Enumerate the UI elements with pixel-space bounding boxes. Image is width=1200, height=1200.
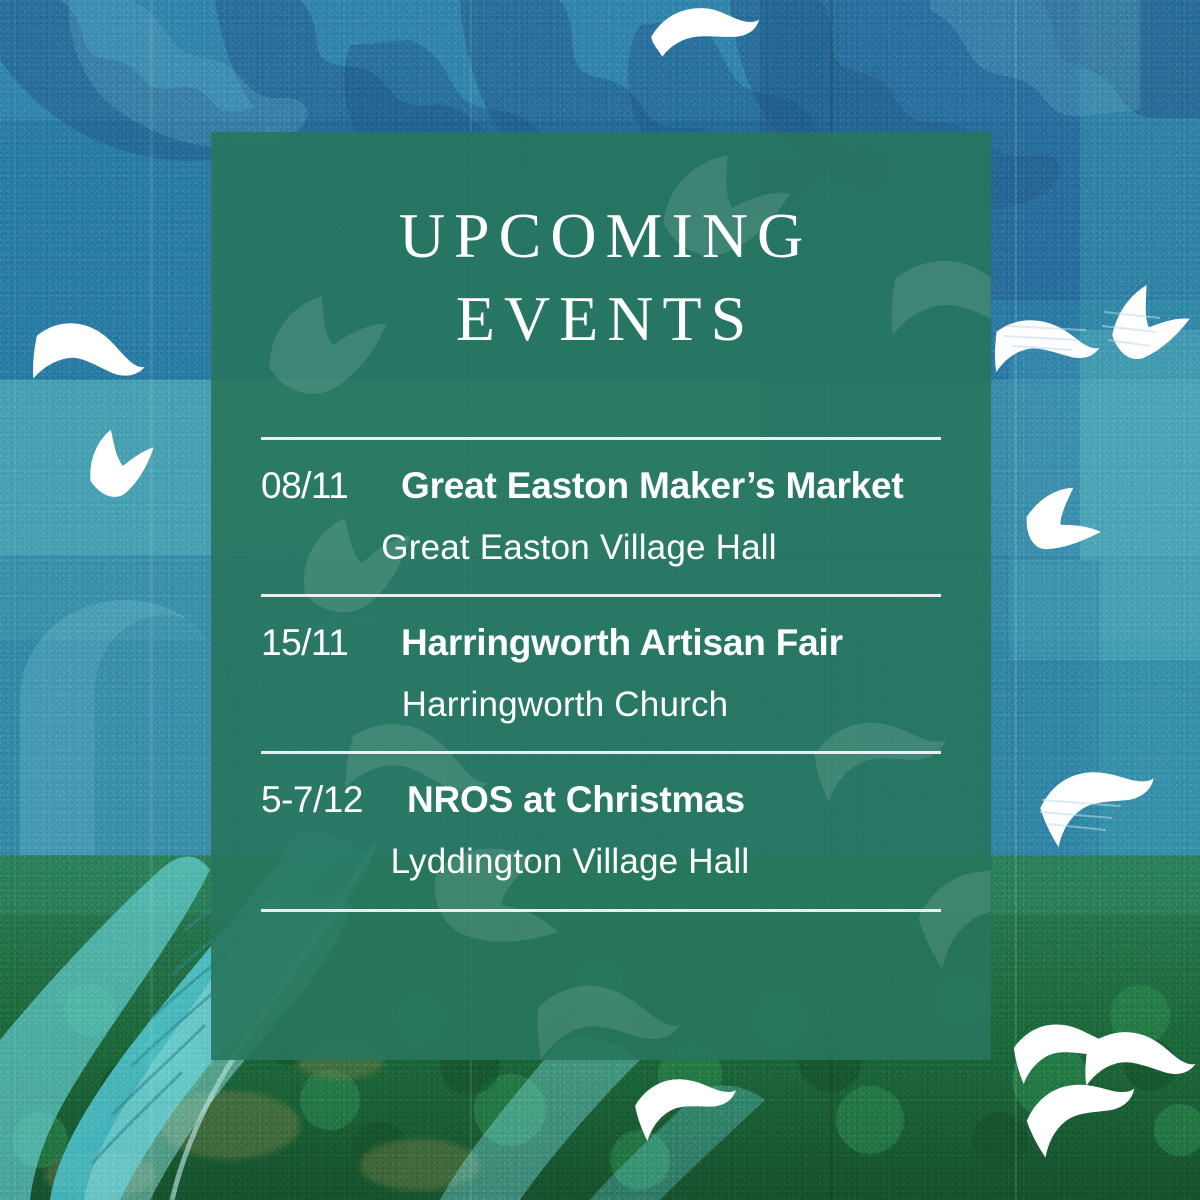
event-date: 08/11 <box>261 466 401 507</box>
event-venue: Harringworth Church <box>261 664 941 752</box>
divider-bottom <box>261 909 941 912</box>
event-name: NROS at Christmas <box>407 780 745 821</box>
title-line-1: UPCOMING <box>211 194 991 277</box>
list-item[interactable]: 08/11 Great Easton Maker’s Market Great … <box>261 440 941 594</box>
events-list: 08/11 Great Easton Maker’s Market Great … <box>261 437 941 912</box>
event-name: Great Easton Maker’s Market <box>401 466 904 507</box>
poster-canvas: UPCOMING EVENTS 08/11 Great Easton Maker… <box>0 0 1200 1200</box>
event-date: 5-7/12 <box>261 780 407 821</box>
event-venue: Lyddington Village Hall <box>261 821 941 909</box>
event-venue: Great Easton Village Hall <box>261 507 941 595</box>
title-line-2: EVENTS <box>211 277 991 360</box>
events-panel: UPCOMING EVENTS 08/11 Great Easton Maker… <box>211 132 991 1060</box>
list-item[interactable]: 15/11 Harringworth Artisan Fair Harringw… <box>261 597 941 751</box>
event-heading-row: 15/11 Harringworth Artisan Fair <box>261 597 941 664</box>
page-title: UPCOMING EVENTS <box>211 194 991 360</box>
event-name: Harringworth Artisan Fair <box>401 623 843 664</box>
list-item[interactable]: 5-7/12 NROS at Christmas Lyddington Vill… <box>261 754 941 908</box>
event-date: 15/11 <box>261 623 401 664</box>
event-heading-row: 08/11 Great Easton Maker’s Market <box>261 440 941 507</box>
event-heading-row: 5-7/12 NROS at Christmas <box>261 754 941 821</box>
